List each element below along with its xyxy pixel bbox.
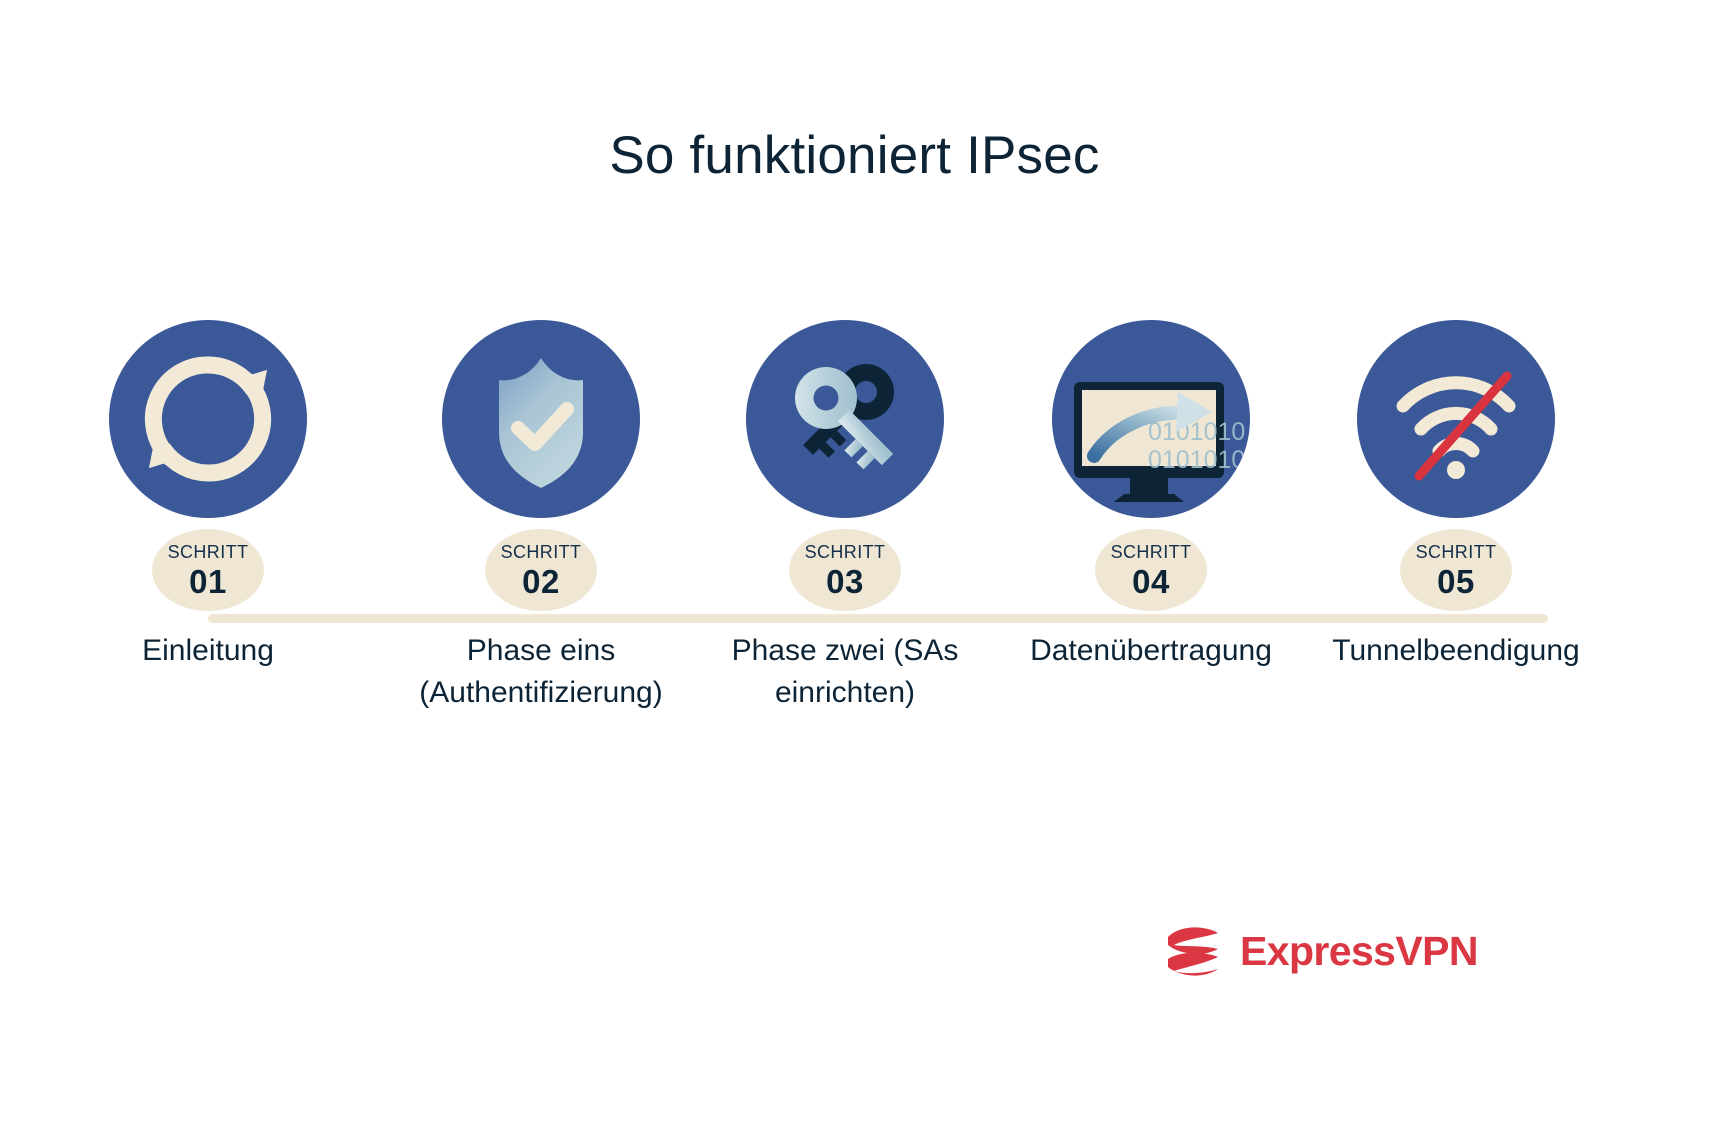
step-04-badge-number: 04 (1132, 565, 1170, 598)
timeline-step-01[interactable]: SCHRITT 01 Einleitung (43, 0, 373, 1121)
step-03-badge-word: SCHRITT (805, 543, 886, 561)
step-03-badge: SCHRITT 03 (789, 529, 901, 611)
monitor-binary-row-2: 0101010 (1148, 446, 1245, 474)
step-03-icon-circle (746, 320, 944, 518)
step-03-label: Phase zwei (SAs einrichten) (715, 630, 975, 714)
expressvpn-logo[interactable]: ExpressVPN (1160, 914, 1450, 988)
wifi-disconnected-icon (1357, 320, 1555, 518)
step-01-label: Einleitung (58, 630, 358, 672)
monitor-data-transfer-icon: 0101010 0101010 (1052, 320, 1250, 518)
step-03-badge-number: 03 (826, 565, 864, 598)
step-02-badge-number: 02 (522, 565, 560, 598)
monitor-binary-row-1: 0101010 (1148, 418, 1245, 446)
expressvpn-wordmark: ExpressVPN (1240, 931, 1478, 972)
step-04-badge-word: SCHRITT (1111, 543, 1192, 561)
step-02-icon-circle (442, 320, 640, 518)
step-04-icon-circle: 0101010 0101010 (1052, 320, 1250, 518)
step-04-badge: SCHRITT 04 (1095, 529, 1207, 611)
timeline-step-02[interactable]: SCHRITT 02 Phase eins (Authentifizierung… (376, 0, 706, 1121)
two-keys-icon (746, 320, 944, 518)
step-05-badge-word: SCHRITT (1416, 543, 1497, 561)
shield-check-icon (442, 320, 640, 518)
infographic-canvas: So funktioniert IPsec SCHRITT 01 Einleit… (0, 0, 1709, 1121)
step-01-badge-number: 01 (189, 565, 227, 598)
step-05-badge-number: 05 (1437, 565, 1475, 598)
step-01-icon-circle (109, 320, 307, 518)
timeline-step-03[interactable]: SCHRITT 03 Phase zwei (SAs einrichten) (680, 0, 1010, 1121)
step-02-badge-word: SCHRITT (501, 543, 582, 561)
step-04-label: Datenübertragung (986, 630, 1316, 672)
refresh-sync-icon (109, 320, 307, 518)
expressvpn-swoosh-icon (1160, 923, 1226, 979)
step-01-badge: SCHRITT 01 (152, 529, 264, 611)
step-05-icon-circle (1357, 320, 1555, 518)
step-05-badge: SCHRITT 05 (1400, 529, 1512, 611)
step-02-label: Phase eins (Authentifizierung) (391, 630, 691, 714)
step-02-badge: SCHRITT 02 (485, 529, 597, 611)
step-05-label: Tunnelbeendigung (1291, 630, 1621, 672)
step-01-badge-word: SCHRITT (168, 543, 249, 561)
